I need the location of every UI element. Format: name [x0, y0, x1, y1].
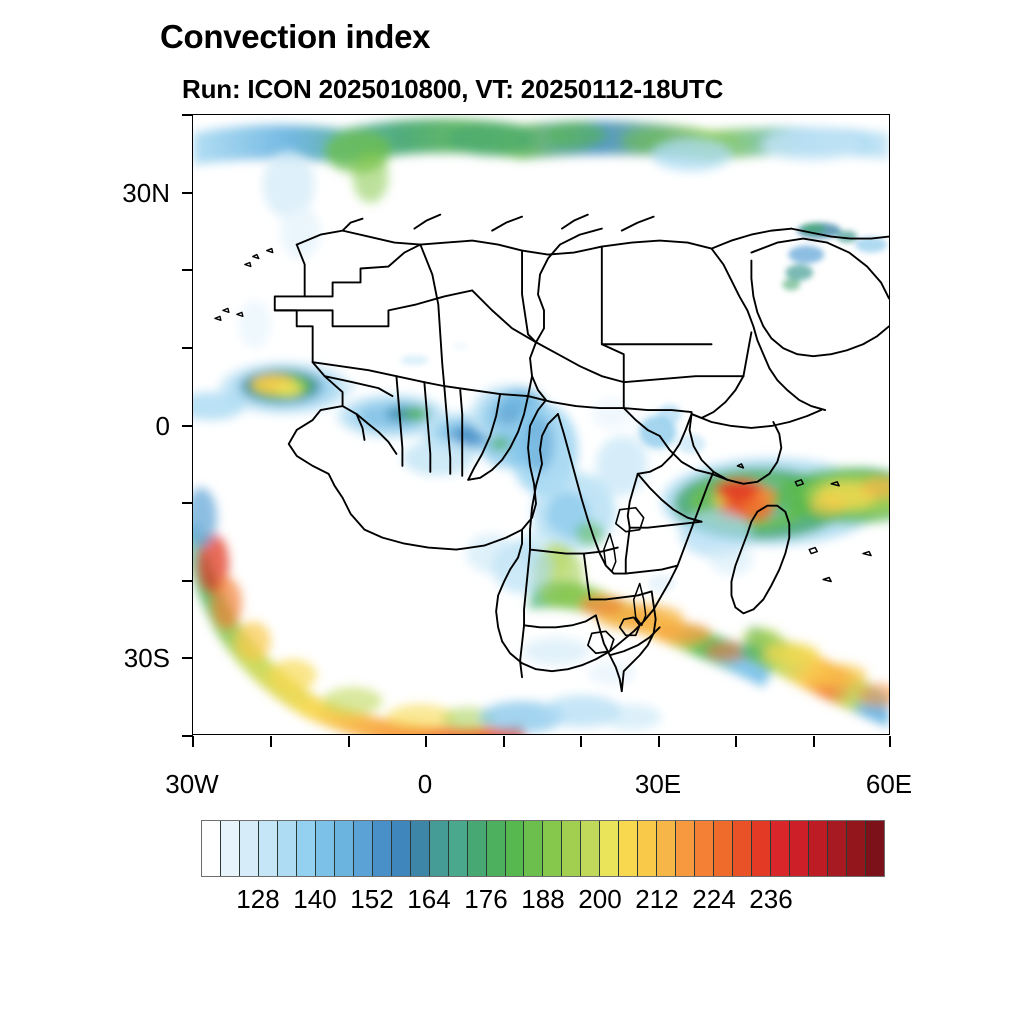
convection-index-figure: Convection index Run: ICON 2025010800, V… [0, 0, 1024, 1024]
tick-x-30W [192, 736, 194, 747]
x-axis-label-30E: 30E [598, 769, 718, 800]
tick-x-10W [348, 736, 350, 747]
colorbar-cell-26 [695, 821, 714, 876]
colorbar-cell-7 [335, 821, 354, 876]
colorbar-gradient-strip[interactable] [201, 820, 885, 877]
tick-x-20E [580, 736, 582, 747]
colorbar-cell-18 [543, 821, 562, 876]
colorbar-label-236: 236 [726, 884, 816, 915]
colorbar-cell-24 [657, 821, 676, 876]
page-title: Convection index [160, 18, 430, 56]
tick-y-30N [182, 192, 193, 194]
colorbar-cell-22 [619, 821, 638, 876]
colorbar-cell-29 [752, 821, 771, 876]
colorbar-cell-12 [430, 821, 449, 876]
colorbar-cell-16 [506, 821, 525, 876]
tick-y-20S [182, 580, 193, 582]
tick-y-20N [182, 269, 193, 271]
colorbar-cell-21 [600, 821, 619, 876]
colorbar-cell-23 [638, 821, 657, 876]
colorbar-cell-3 [259, 821, 278, 876]
tick-y-0 [182, 425, 193, 427]
colorbar-cell-32 [809, 821, 828, 876]
colorbar-cell-10 [392, 821, 411, 876]
colorbar-cell-19 [562, 821, 581, 876]
tick-x-0 [425, 736, 427, 747]
x-axis-label-60E: 60E [829, 769, 949, 800]
field-atlantic-itcz [193, 362, 351, 420]
tick-y-10S [182, 502, 193, 504]
colorbar-cell-2 [240, 821, 259, 876]
tick-y-30S [182, 657, 193, 659]
convection-field-layer [193, 119, 889, 734]
colorbar-cell-4 [278, 821, 297, 876]
tick-x-20W [270, 736, 272, 747]
colorbar-cell-34 [847, 821, 866, 876]
run-valid-time-subtitle: Run: ICON 2025010800, VT: 20250112-18UTC [182, 74, 723, 105]
colorbar-cell-20 [581, 821, 600, 876]
colorbar-cell-6 [316, 821, 335, 876]
colorbar-cell-15 [487, 821, 506, 876]
map-plot-area[interactable] [192, 114, 890, 735]
colorbar-cell-17 [524, 821, 543, 876]
colorbar-cell-31 [790, 821, 809, 876]
y-axis-label-0: 0 [30, 411, 170, 442]
colorbar-cell-14 [468, 821, 487, 876]
y-axis-label-30S: 30S [30, 643, 170, 674]
tick-x-30E [658, 736, 660, 747]
tick-y-10N [182, 347, 193, 349]
field-arabia [782, 223, 887, 291]
tick-x-10E [503, 736, 505, 747]
colorbar-cell-5 [297, 821, 316, 876]
colorbar-cell-11 [411, 821, 430, 876]
colorbar[interactable] [201, 820, 885, 877]
colorbar-cell-1 [221, 821, 240, 876]
colorbar-cell-28 [733, 821, 752, 876]
y-axis-label-30N: 30N [30, 178, 170, 209]
map-canvas [193, 115, 889, 734]
field-canary [239, 151, 321, 348]
x-axis-label-30W: 30W [132, 769, 252, 800]
tick-x-60E [889, 736, 891, 747]
colorbar-cell-8 [354, 821, 373, 876]
colorbar-cell-13 [449, 821, 468, 876]
colorbar-cell-33 [828, 821, 847, 876]
colorbar-cell-0 [202, 821, 221, 876]
colorbar-cell-9 [373, 821, 392, 876]
tick-x-50E [813, 736, 815, 747]
x-axis-label-0: 0 [365, 769, 485, 800]
colorbar-cell-35 [866, 821, 884, 876]
colorbar-cell-27 [714, 821, 733, 876]
tick-x-40E [735, 736, 737, 747]
tick-y-40N [182, 114, 193, 116]
colorbar-cell-25 [676, 821, 695, 876]
colorbar-cell-30 [771, 821, 790, 876]
